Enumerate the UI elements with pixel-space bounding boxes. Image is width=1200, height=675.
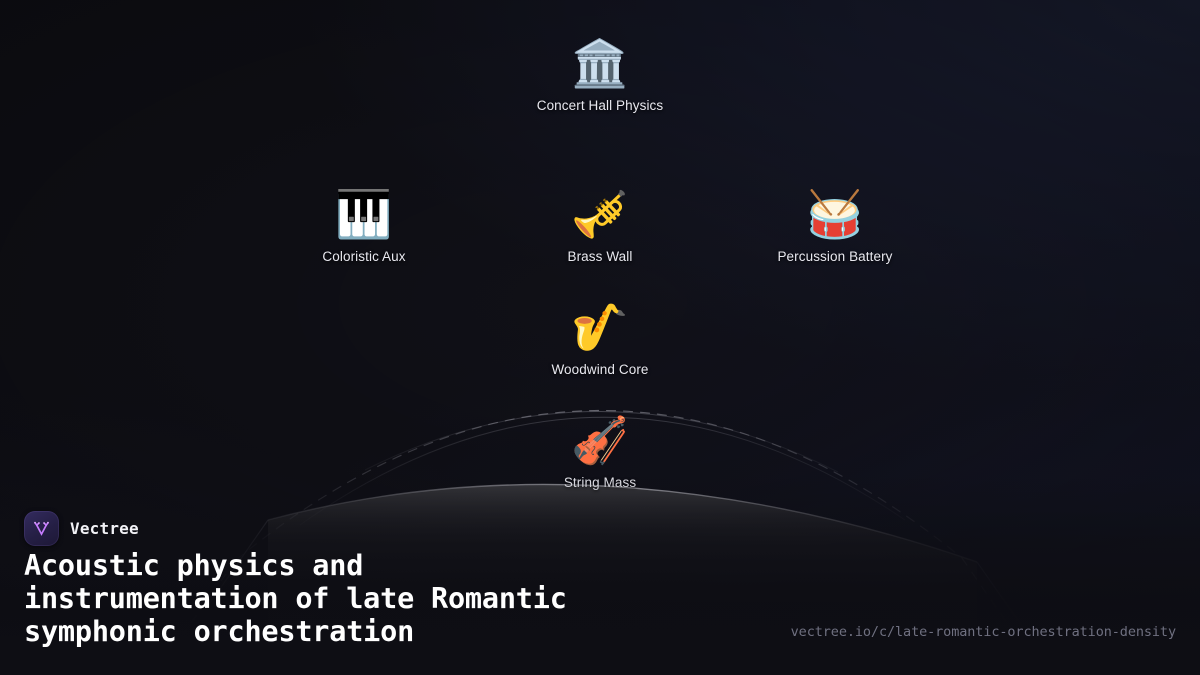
- violin-icon: 🎻: [490, 411, 710, 469]
- node-label: String Mass: [490, 475, 710, 491]
- node-label: Percussion Battery: [725, 249, 945, 265]
- brand-lockup[interactable]: Vectree: [24, 511, 139, 546]
- node-brass-wall[interactable]: 🎺 Brass Wall: [490, 185, 710, 265]
- share-url: vectree.io/c/late-romantic-orchestration…: [791, 624, 1176, 640]
- page-title: Acoustic physics and instrumentation of …: [24, 549, 764, 648]
- node-string-mass[interactable]: 🎻 String Mass: [490, 411, 710, 491]
- node-label: Brass Wall: [490, 249, 710, 265]
- musical-keyboard-icon: 🎹: [254, 185, 474, 243]
- vectree-logo-badge: [24, 511, 59, 546]
- trumpet-icon: 🎺: [490, 185, 710, 243]
- saxophone-icon: 🎷: [490, 298, 710, 356]
- node-label: Woodwind Core: [490, 362, 710, 378]
- vectree-share-card: 🏛️ Concert Hall Physics 🎹 Coloristic Aux…: [0, 0, 1200, 675]
- brand-name: Vectree: [70, 519, 139, 538]
- node-concert-hall-physics[interactable]: 🏛️ Concert Hall Physics: [490, 34, 710, 114]
- node-coloristic-aux[interactable]: 🎹 Coloristic Aux: [254, 185, 474, 265]
- node-percussion-battery[interactable]: 🥁 Percussion Battery: [725, 185, 945, 265]
- drum-icon: 🥁: [725, 185, 945, 243]
- vectree-v-tree-icon: [31, 518, 52, 539]
- node-label: Coloristic Aux: [254, 249, 474, 265]
- classical-building-icon: 🏛️: [490, 34, 710, 92]
- node-label: Concert Hall Physics: [490, 98, 710, 114]
- node-woodwind-core[interactable]: 🎷 Woodwind Core: [490, 298, 710, 378]
